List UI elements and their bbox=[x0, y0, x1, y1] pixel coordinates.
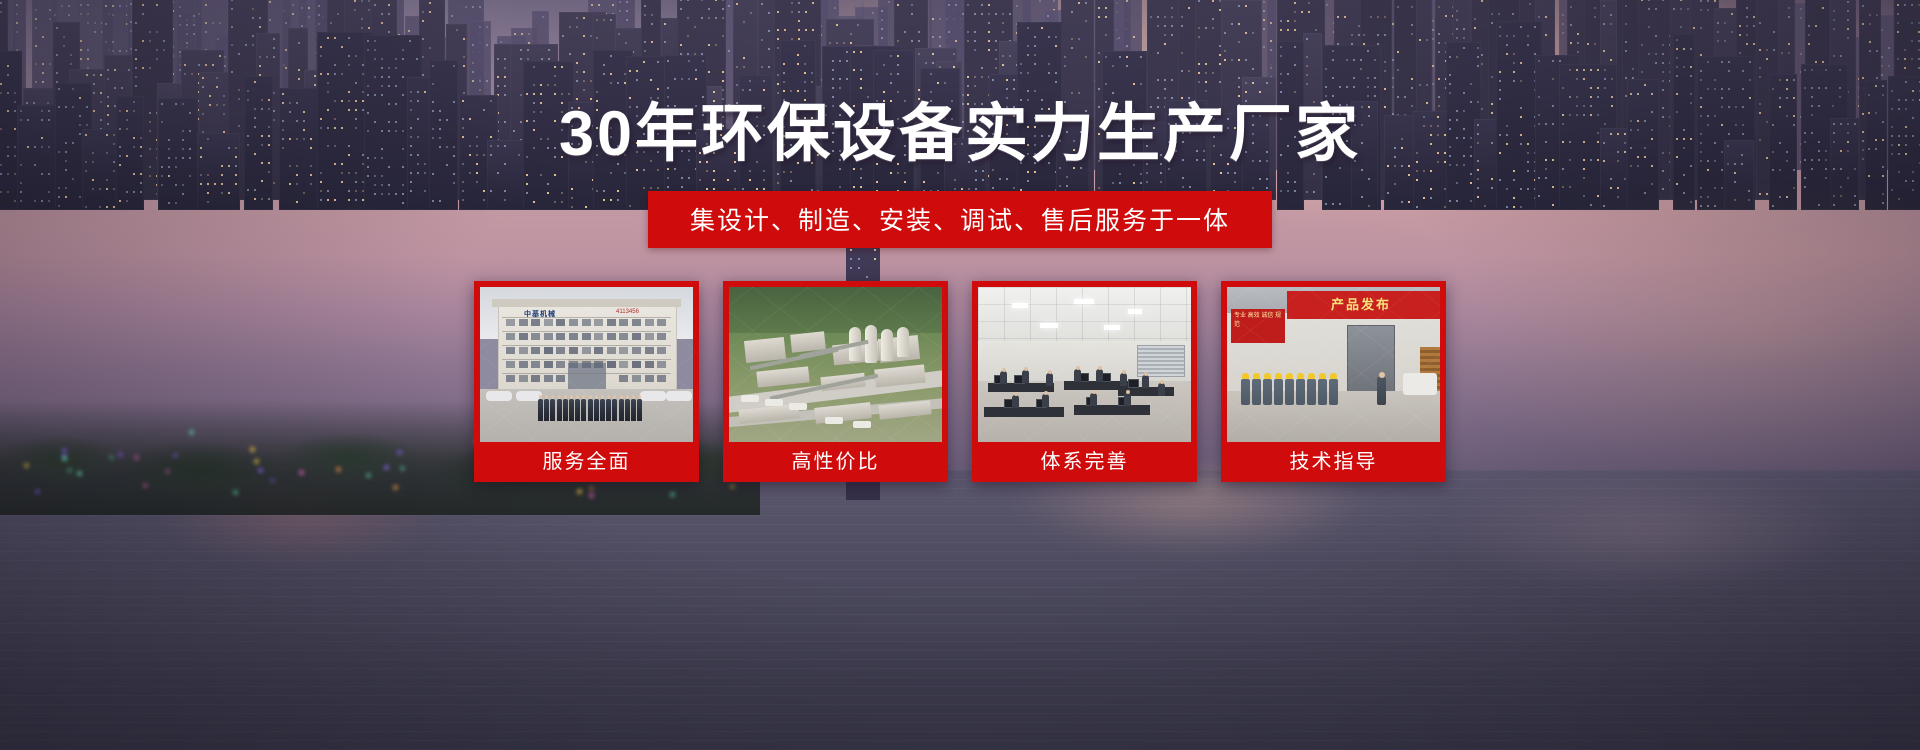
page-title: 30年环保设备实力生产厂家 bbox=[0, 101, 1920, 167]
building-sign-phone: 4113456 bbox=[616, 309, 639, 315]
card-image-office-interior bbox=[975, 284, 1194, 442]
park-light bbox=[24, 463, 29, 468]
feature-card-system[interactable]: 体系完善 bbox=[972, 281, 1197, 482]
park-light bbox=[577, 489, 582, 494]
card-caption: 服务全面 bbox=[477, 442, 696, 482]
park-light bbox=[250, 447, 255, 452]
park-light bbox=[400, 466, 405, 471]
park-light bbox=[233, 490, 238, 495]
park-light bbox=[384, 465, 389, 470]
park-light bbox=[173, 453, 178, 458]
park-light bbox=[189, 430, 194, 435]
card-caption: 体系完善 bbox=[975, 442, 1194, 482]
card-caption: 技术指导 bbox=[1224, 442, 1443, 482]
park-light bbox=[258, 468, 263, 473]
workshop-side-banner-text: 专业 高效 诚信 规范 bbox=[1234, 312, 1282, 330]
subtitle-banner: 集设计、制造、安装、调试、售后服务于一体 bbox=[648, 191, 1272, 248]
park-light bbox=[589, 493, 594, 498]
park-light bbox=[118, 452, 123, 457]
park-light bbox=[397, 450, 402, 455]
workshop-banner-text: 产品发布 bbox=[1331, 294, 1391, 313]
park-light bbox=[589, 486, 594, 491]
feature-card-value[interactable]: 高性价比 bbox=[723, 281, 948, 482]
park-light bbox=[336, 467, 341, 472]
card-image-office-building: 中基机械 4113456 bbox=[477, 284, 696, 442]
park-light bbox=[62, 456, 67, 461]
card-image-aerial-plant bbox=[726, 284, 945, 442]
park-light bbox=[165, 469, 170, 474]
card-image-workshop: 产品发布 专业 高效 诚信 规范 bbox=[1224, 284, 1443, 442]
park-light bbox=[366, 473, 371, 478]
park-light bbox=[67, 468, 72, 473]
card-caption: 高性价比 bbox=[726, 442, 945, 482]
park-light bbox=[77, 471, 82, 476]
park-light bbox=[62, 448, 67, 453]
feature-card-service[interactable]: 中基机械 4113456 服务全面 bbox=[474, 281, 699, 482]
park-light bbox=[393, 485, 398, 490]
park-light bbox=[270, 478, 275, 483]
park-light bbox=[35, 489, 40, 494]
hero-banner: 30年环保设备实力生产厂家 集设计、制造、安装、调试、售后服务于一体 中基机械 … bbox=[0, 0, 1920, 750]
park-light bbox=[254, 459, 259, 464]
park-light bbox=[134, 455, 139, 460]
park-light bbox=[670, 492, 675, 497]
park-light bbox=[143, 483, 148, 488]
park-light bbox=[730, 484, 735, 489]
feature-card-row: 中基机械 4113456 服务全面 高性价比 bbox=[474, 281, 1446, 482]
park-light bbox=[109, 455, 114, 460]
park-light bbox=[299, 470, 304, 475]
feature-card-guidance[interactable]: 产品发布 专业 高效 诚信 规范 技术指导 bbox=[1221, 281, 1446, 482]
right-bank-glow bbox=[1400, 180, 1920, 480]
